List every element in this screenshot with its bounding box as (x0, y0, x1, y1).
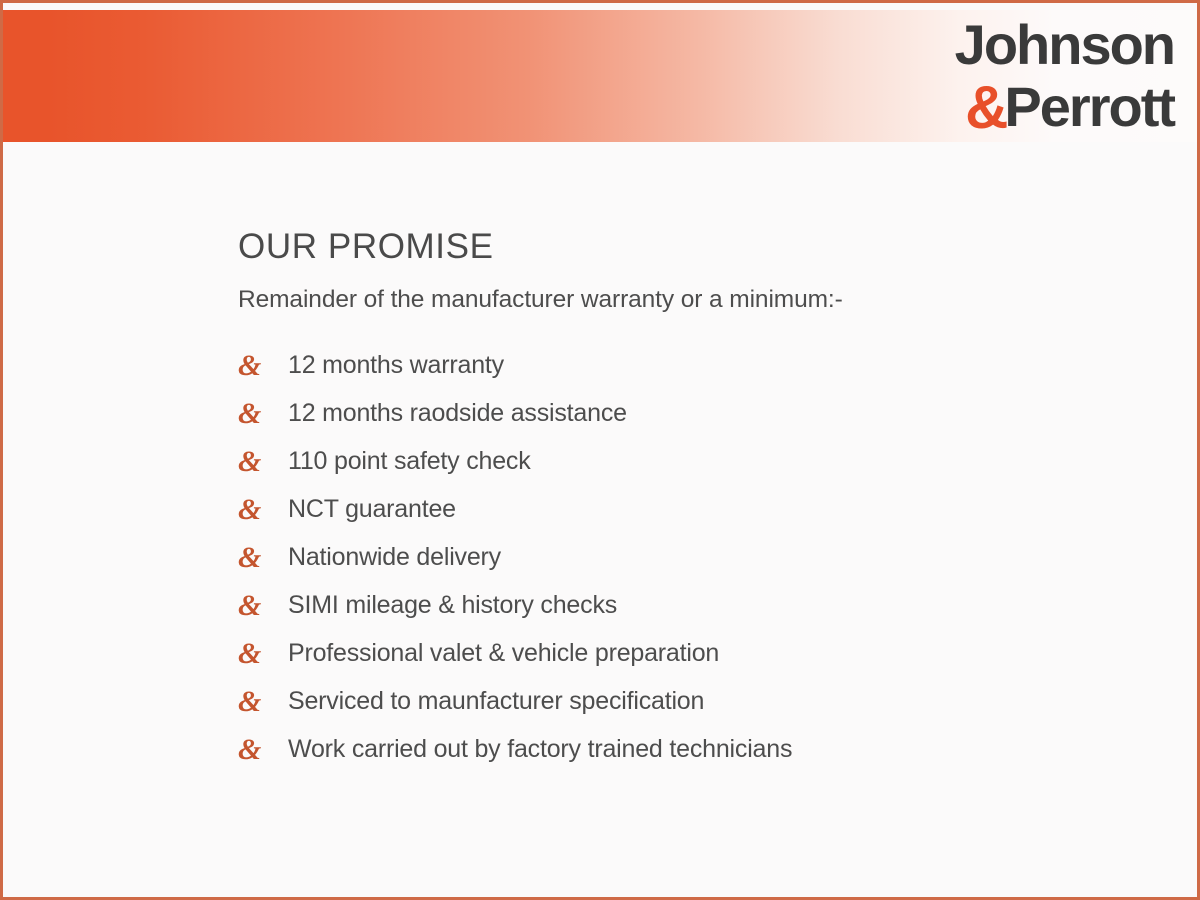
promise-list: & 12 months warranty & 12 months raodsid… (238, 342, 1157, 774)
list-item: & SIMI mileage & history checks (238, 582, 1157, 630)
list-item-label: 12 months raodside assistance (288, 400, 627, 428)
list-item: & Professional valet & vehicle preparati… (238, 630, 1157, 678)
johnson-perrott-logo: Johnson &Perrott (955, 18, 1174, 136)
ampersand-bullet-icon: & (238, 687, 288, 717)
promise-poster: Johnson &Perrott OUR PROMISE Remainder o… (0, 0, 1200, 900)
list-item-label: 110 point safety check (288, 448, 531, 476)
page-subtitle: Remainder of the manufacturer warranty o… (238, 285, 1157, 314)
promise-content: OUR PROMISE Remainder of the manufacture… (238, 228, 1157, 774)
logo-perrott-text: Perrott (1004, 75, 1174, 138)
ampersand-bullet-icon: & (238, 351, 288, 381)
ampersand-bullet-icon: & (238, 399, 288, 429)
logo-line-perrott: &Perrott (955, 75, 1174, 136)
logo-ampersand-icon: & (965, 77, 1002, 138)
list-item: & 12 months raodside assistance (238, 390, 1157, 438)
ampersand-bullet-icon: & (238, 543, 288, 573)
list-item-label: Work carried out by factory trained tech… (288, 736, 792, 764)
ampersand-bullet-icon: & (238, 639, 288, 669)
list-item: & Work carried out by factory trained te… (238, 726, 1157, 774)
list-item: & 110 point safety check (238, 438, 1157, 486)
header-inner: Johnson &Perrott (0, 10, 1200, 142)
list-item-label: Serviced to maunfacturer specification (288, 688, 704, 716)
list-item-label: Professional valet & vehicle preparation (288, 640, 719, 668)
list-item-label: NCT guarantee (288, 496, 456, 524)
logo-line-johnson: Johnson (955, 18, 1174, 73)
brand-header-band: Johnson &Perrott (0, 10, 1200, 142)
list-item-label: SIMI mileage & history checks (288, 592, 617, 620)
ampersand-bullet-icon: & (238, 447, 288, 477)
list-item: & Serviced to maunfacturer specification (238, 678, 1157, 726)
ampersand-bullet-icon: & (238, 591, 288, 621)
list-item-label: Nationwide delivery (288, 544, 501, 572)
list-item: & NCT guarantee (238, 486, 1157, 534)
list-item: & Nationwide delivery (238, 534, 1157, 582)
page-title: OUR PROMISE (238, 228, 1157, 267)
list-item-label: 12 months warranty (288, 352, 504, 380)
ampersand-bullet-icon: & (238, 735, 288, 765)
ampersand-bullet-icon: & (238, 495, 288, 525)
list-item: & 12 months warranty (238, 342, 1157, 390)
